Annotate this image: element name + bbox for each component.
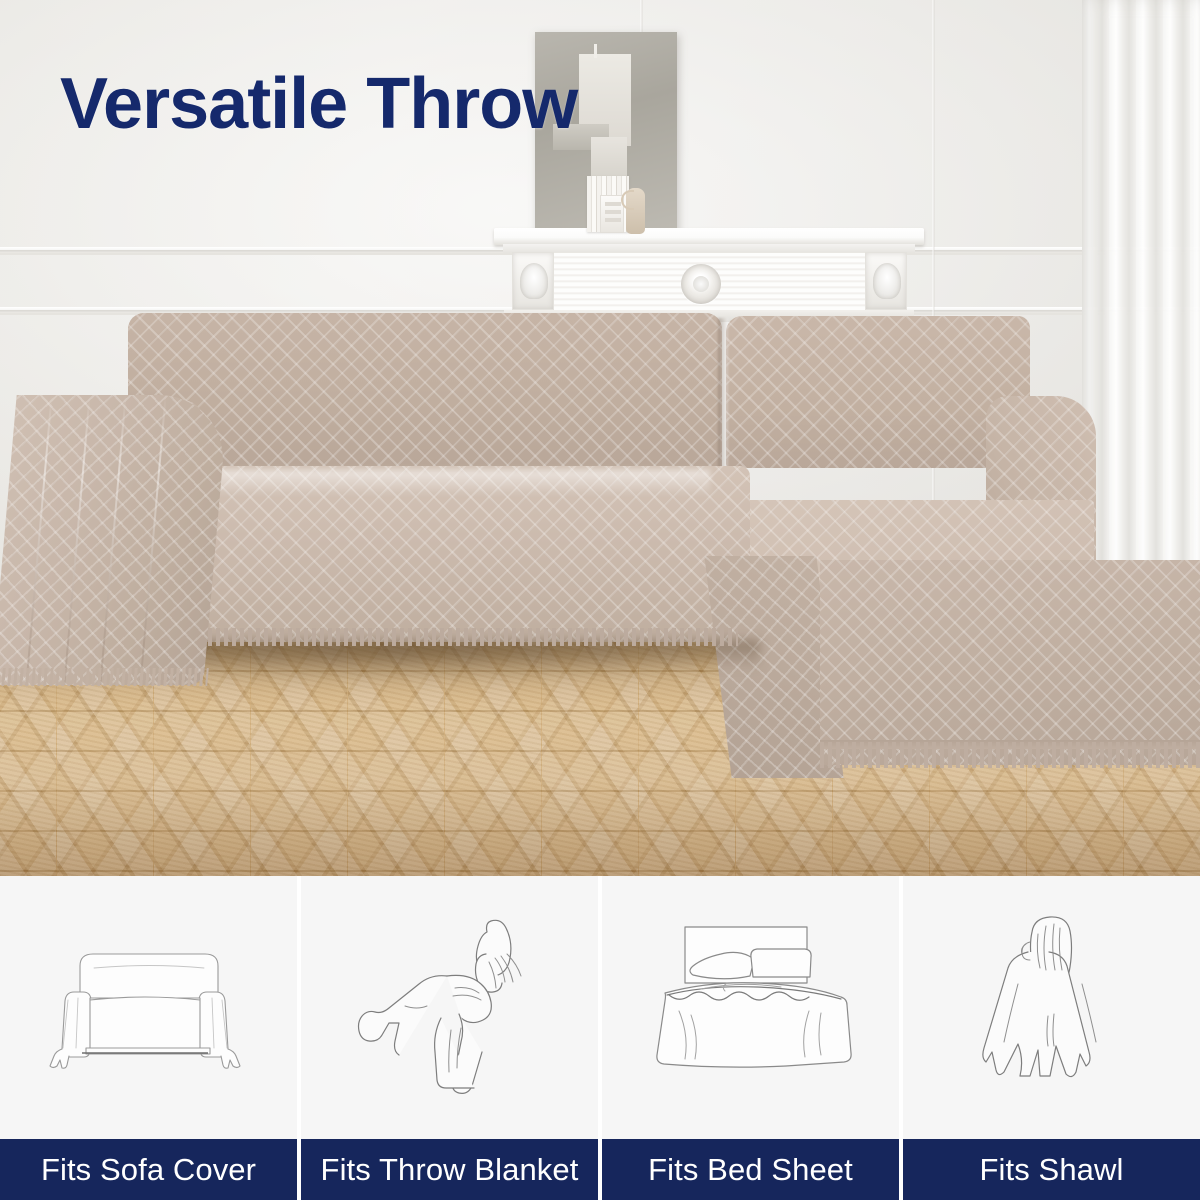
person-blanket-icon [335,910,565,1105]
throw-fringe-chaise [820,742,1200,768]
throw-fringe-front [120,628,738,646]
feature-panel-shawl[interactable]: Fits Shawl [903,876,1200,1200]
throw-skirt-chaise [820,560,1200,765]
feature-label-bed-sheet: Fits Bed Sheet [602,1139,899,1200]
seat-highlight [150,470,710,496]
panel-illustration-area [0,876,297,1139]
sofa-draped-icon [34,918,264,1098]
feature-label-shawl: Fits Shawl [903,1139,1200,1200]
panel-illustration-area [301,876,598,1139]
throw-drape-left [0,395,229,685]
feature-panel-bed-sheet[interactable]: Fits Bed Sheet [602,876,899,1200]
feature-panel-throw-blanket[interactable]: Fits Throw Blanket [301,876,598,1200]
throw-fringe-left [1,668,209,686]
product-infographic: Versatile Throw [0,0,1200,1200]
feature-panel-row: Fits Sofa Cover [0,876,1200,1200]
hero-lifestyle-photo: Versatile Throw [0,0,1200,876]
panel-illustration-area [602,876,899,1139]
panel-illustration-area [903,876,1200,1139]
bed-duvet-icon [631,915,871,1100]
feature-label-sofa-cover: Fits Sofa Cover [0,1139,297,1200]
page-title: Versatile Throw [60,68,577,140]
feature-panel-sofa-cover[interactable]: Fits Sofa Cover [0,876,297,1200]
feature-label-throw-blanket: Fits Throw Blanket [301,1139,598,1200]
throw-backrest-right [726,316,1030,468]
person-shawl-icon [962,908,1142,1108]
